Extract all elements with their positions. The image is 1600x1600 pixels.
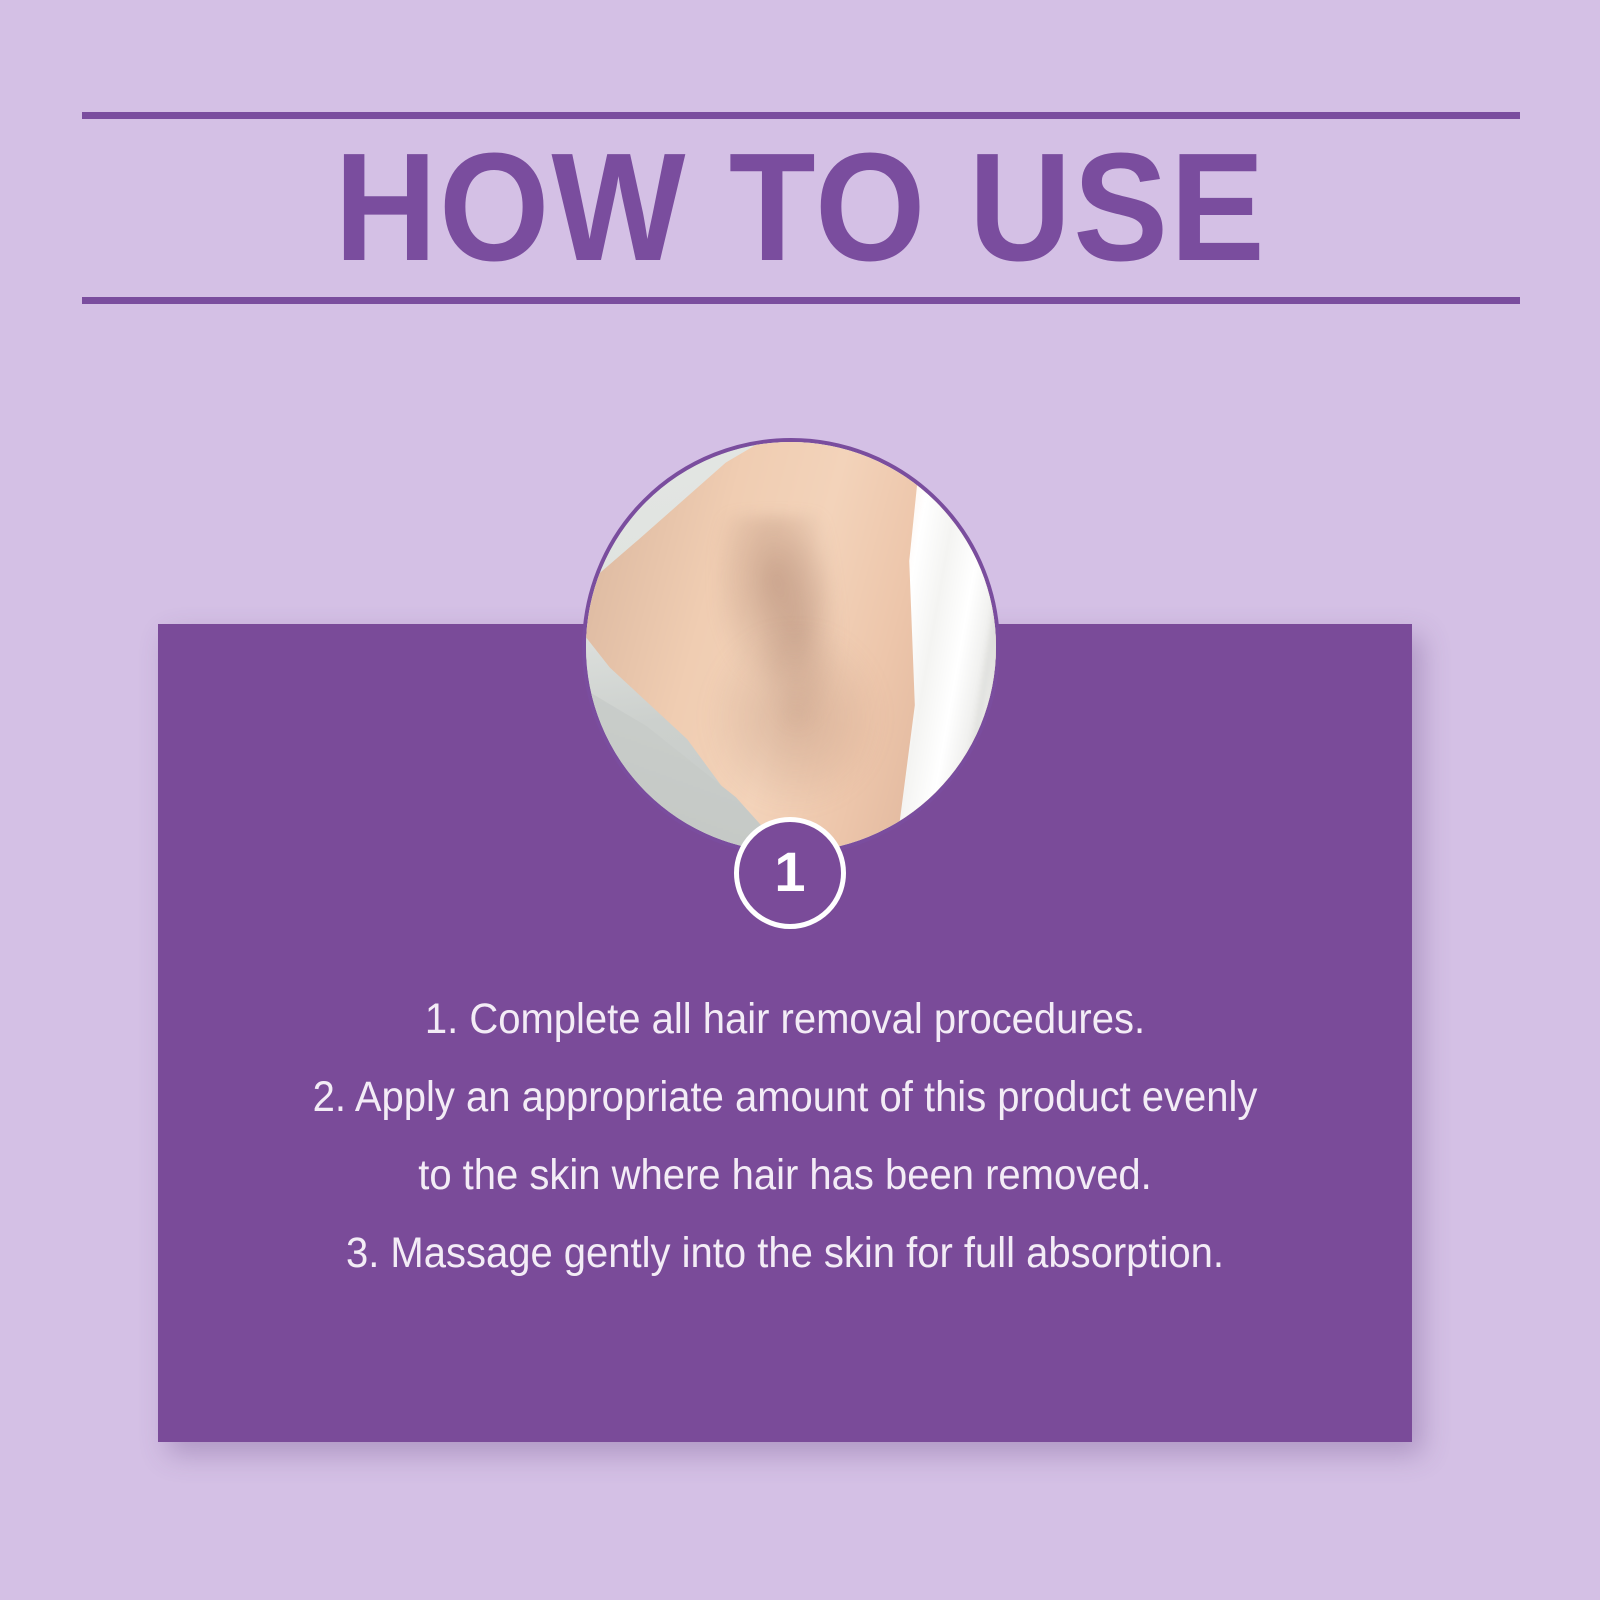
header-rule-top (82, 112, 1520, 119)
step-photo-circle (582, 438, 1000, 856)
step-number-badge: 1 (734, 817, 846, 929)
page-title: HOW TO USE (82, 134, 1520, 282)
instruction-list: 1. Complete all hair removal procedures.… (158, 980, 1412, 1292)
page-header: HOW TO USE (82, 112, 1520, 304)
header-rule-bottom (82, 297, 1520, 304)
instruction-line: 2. Apply an appropriate amount of this p… (202, 1058, 1368, 1136)
how-to-use-page: HOW TO USE 1 1. Complete all hair remova… (0, 0, 1600, 1600)
page-title-text: HOW TO USE (335, 131, 1267, 285)
instruction-line: 3. Massage gently into the skin for full… (202, 1214, 1368, 1292)
instruction-line: 1. Complete all hair removal procedures. (202, 980, 1368, 1058)
step-number-label: 1 (774, 844, 805, 902)
instruction-line: to the skin where hair has been removed. (202, 1136, 1368, 1214)
